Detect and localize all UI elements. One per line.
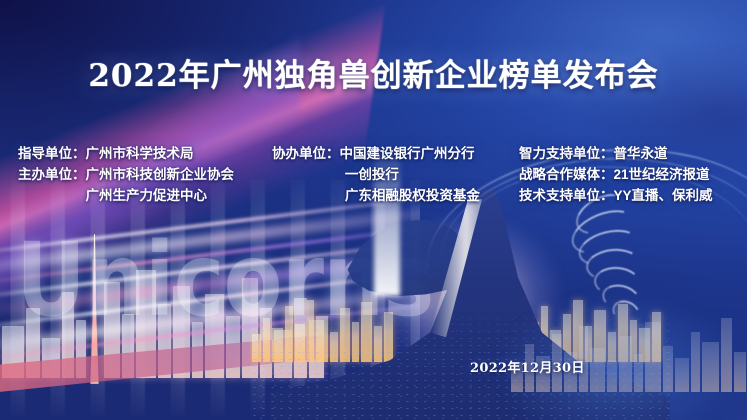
organizer-line: 协办单位：中国建设银行广州分行 bbox=[272, 143, 480, 164]
organizer-column-support: 智力支持单位：普华永道 战略合作媒体：21世纪经济报道 技术支持单位：YY直播、… bbox=[519, 143, 713, 206]
event-date: 2022年12月30日 bbox=[470, 357, 585, 376]
organizer-line: 一创投行 bbox=[272, 164, 480, 185]
organizer-line: 指导单位：广州市科学技术局 bbox=[18, 143, 234, 164]
organizer-line: 智力支持单位：普华永道 bbox=[519, 143, 713, 164]
organizer-line: 技术支持单位：YY直播、保利威 bbox=[519, 185, 713, 206]
organizer-line: 广东相融股权投资基金 bbox=[272, 185, 480, 206]
organizer-credits: 指导单位：广州市科学技术局 主办单位：广州市科技创新企业协会 广州生产力促进中心… bbox=[0, 143, 747, 215]
organizer-column-guidance: 指导单位：广州市科学技术局 主办单位：广州市科技创新企业协会 广州生产力促进中心 bbox=[18, 143, 234, 206]
organizer-line: 战略合作媒体：21世纪经济报道 bbox=[519, 164, 713, 185]
organizer-line: 主办单位：广州市科技创新企业协会 bbox=[18, 164, 234, 185]
page-title: 2022年广州独角兽创新企业榜单发布会 bbox=[0, 50, 747, 95]
organizer-line: 广州生产力促进中心 bbox=[18, 185, 234, 206]
organizer-column-coorganizers: 协办单位：中国建设银行广州分行 一创投行 广东相融股权投资基金 bbox=[272, 143, 480, 206]
bottom-right-glow bbox=[447, 260, 747, 420]
event-poster: Unicorns bbox=[0, 0, 747, 420]
